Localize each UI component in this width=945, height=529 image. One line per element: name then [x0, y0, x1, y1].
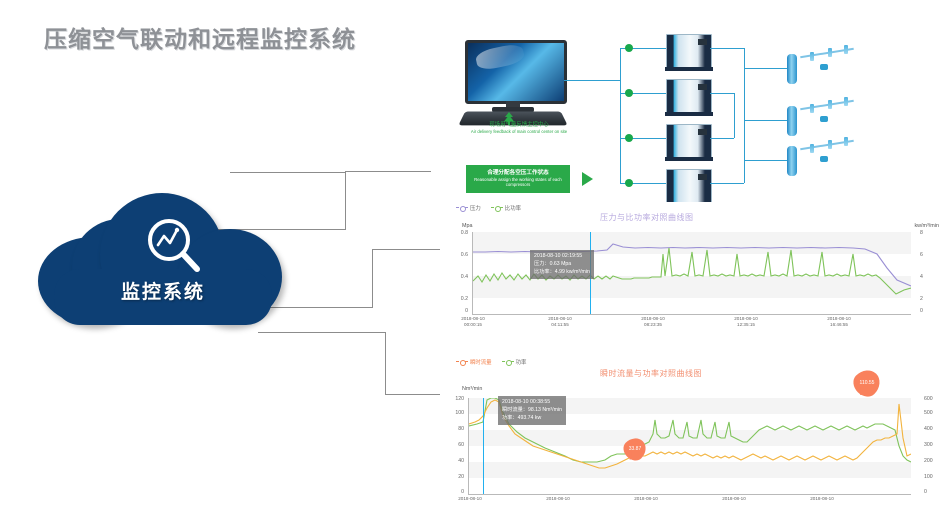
- magnifier-chart-icon: [144, 217, 206, 279]
- air-tank: [787, 54, 797, 84]
- drop-line: [844, 137, 848, 146]
- pipe-out-4: [710, 183, 744, 184]
- xtick-time: 04:11:55: [535, 322, 585, 328]
- pressure-xtick: 2018-08-10 00:00:15: [448, 316, 498, 327]
- pipe-collector-inner: [734, 93, 735, 138]
- compressor-panel: [698, 84, 707, 90]
- flow-chart-title: 瞬时流量与功率对照曲线图: [600, 368, 702, 379]
- flow-tooltip: 2018-08-10 00:38:55 瞬时流量：98.13 Nm³/min 功…: [498, 396, 566, 425]
- pressure-xtick: 2018-08-10 08:23:35: [628, 316, 678, 327]
- compressor-unit: [666, 124, 712, 158]
- flow-cursor-line[interactable]: [483, 398, 484, 494]
- tooltip-timestamp: 2018-08-10 02:19:55: [534, 253, 590, 261]
- xtick-time: 12:35:15: [721, 322, 771, 328]
- pipe-bus-vertical: [620, 48, 621, 184]
- node-dot-1: [625, 44, 633, 52]
- legend-item-pressure[interactable]: 压力: [456, 204, 481, 212]
- drop-line: [828, 140, 832, 149]
- flow-ytick-right: 600: [924, 396, 940, 402]
- pipe-plant-2: [744, 120, 788, 121]
- flow-ytick: 120: [448, 396, 464, 402]
- flow-max-marker-value: 110.55: [854, 370, 880, 396]
- pressure-ytick-right: 4: [920, 274, 936, 280]
- node-dot-3: [625, 134, 633, 142]
- legend-item-power[interactable]: 功率: [502, 358, 527, 366]
- feedback-caption-cn: 现场用气量反馈主控中心: [464, 122, 574, 129]
- compressor-unit: [666, 169, 712, 203]
- compressor-unit: [666, 34, 712, 68]
- pipe-plant-1: [744, 68, 788, 69]
- connector-2-vertical: [372, 249, 373, 307]
- pressure-xtick: 2018-08-10 04:11:55: [535, 316, 585, 327]
- flow-xtick: 2018-08-10: [445, 496, 495, 502]
- flow-chart[interactable]: 瞬时流量 功率 瞬时流量与功率对照曲线图 Nm³/min 120 100 80 …: [440, 356, 942, 516]
- flow-xtick: 2018-08-10: [797, 496, 847, 502]
- pressure-ytick: 0.6: [452, 252, 468, 258]
- flow-ytick-right: 300: [924, 442, 940, 448]
- compressor-panel: [698, 39, 707, 45]
- flow-ytick: 20: [448, 474, 464, 480]
- assign-status-box: 合理分配各空压工作状态 Reasonable assign the workin…: [466, 165, 570, 193]
- pressure-ytick: 0: [452, 308, 468, 314]
- connector-line-top: [230, 172, 345, 173]
- slide-root: 压缩空气联动和远程监控系统 监控系统: [0, 0, 945, 529]
- flow-max-marker[interactable]: 110.55: [849, 365, 886, 402]
- compressor-base: [665, 157, 713, 161]
- legend-marker: [456, 361, 468, 363]
- tooltip-line-specific-power: 比功率：4.99 kw/m³/min: [534, 269, 590, 277]
- monitor-screen: [465, 40, 567, 104]
- tooltip-line-power: 功率：493.74 kw: [502, 415, 562, 423]
- cloud-label: 监控系统: [38, 277, 288, 304]
- pipe-out-3: [710, 138, 734, 139]
- xtick-time: 08:23:35: [628, 322, 678, 328]
- flow-min-marker-value: 33.87: [624, 438, 646, 460]
- pressure-chart[interactable]: 压力 比功率 压力与比功率对照曲线图 Mpa kw/m³/min 0.8 0.6…: [440, 202, 942, 332]
- feedback-caption: 现场用气量反馈主控中心 Air delivery feedback of mai…: [464, 122, 574, 134]
- pressure-ytick-right: 2: [920, 296, 936, 302]
- flow-ytick-right: 100: [924, 474, 940, 480]
- pressure-y-axis-unit-left: Mpa: [462, 223, 473, 229]
- legend-label: 比功率: [505, 204, 521, 212]
- flow-chart-legend[interactable]: 瞬时流量 功率: [456, 358, 526, 366]
- flow-ytick: 60: [448, 442, 464, 448]
- flow-y-axis-unit-left: Nm³/min: [462, 386, 482, 392]
- flow-ytick: 80: [448, 426, 464, 432]
- flow-xtick: 2018-08-10: [533, 496, 583, 502]
- air-tank: [787, 146, 797, 176]
- drop-line: [844, 45, 848, 54]
- tooltip-line-pressure: 压力：0.63 Mpa: [534, 261, 590, 269]
- page-title: 压缩空气联动和远程监控系统: [44, 20, 356, 54]
- legend-marker: [502, 361, 514, 363]
- pressure-y-axis-unit-right: kw/m³/min: [914, 223, 939, 229]
- pressure-chart-legend[interactable]: 压力 比功率: [456, 204, 521, 212]
- pressure-ytick-right: 0: [920, 308, 936, 314]
- air-tank: [787, 106, 797, 136]
- flow-xtick: 2018-08-10: [709, 496, 759, 502]
- drop-line: [828, 48, 832, 57]
- legend-marker: [456, 207, 468, 209]
- pressure-xtick: 2018-08-10 12:35:15: [721, 316, 771, 327]
- pressure-chart-title: 压力与比功率对照曲线图: [600, 212, 694, 223]
- drop-line: [810, 52, 814, 61]
- legend-marker: [491, 207, 503, 209]
- flow-ytick-right: 400: [924, 426, 940, 432]
- compressor-panel: [698, 174, 707, 180]
- legend-item-specific-power[interactable]: 比功率: [491, 204, 521, 212]
- drop-line: [810, 144, 814, 153]
- xtick-time: 16:46:55: [814, 322, 864, 328]
- flow-ytick-right: 200: [924, 458, 940, 464]
- legend-label: 功率: [516, 358, 527, 366]
- connector-1-vertical: [345, 171, 346, 230]
- pressure-ytick-right: 8: [920, 230, 936, 236]
- system-topology-diagram: 现场用气量反馈主控中心 Air delivery feedback of mai…: [440, 22, 940, 207]
- flow-ytick: 100: [448, 410, 464, 416]
- pressure-tooltip: 2018-08-10 02:19:55 压力：0.63 Mpa 比功率：4.99…: [530, 250, 594, 279]
- node-dot-2: [625, 89, 633, 97]
- flow-ytick: 0: [448, 489, 464, 495]
- assign-status-en: Reasonable assign the working states of …: [466, 177, 570, 188]
- flow-ytick-right: 0: [924, 489, 940, 495]
- compressor-unit: [666, 79, 712, 113]
- end-equipment: [820, 156, 828, 162]
- pressure-ytick: 0.4: [452, 274, 468, 280]
- connector-2-horizontal-mid: [343, 307, 373, 308]
- flow-ytick: 40: [448, 458, 464, 464]
- xtick-time: 00:00:15: [448, 322, 498, 328]
- compressor-base: [665, 67, 713, 71]
- tooltip-line-instant-flow: 瞬时流量：98.13 Nm³/min: [502, 407, 562, 415]
- pipe-monitor-to-bus: [564, 80, 620, 81]
- legend-label: 瞬时流量: [470, 358, 492, 366]
- flow-xtick: 2018-08-10: [621, 496, 671, 502]
- compressor-base: [665, 112, 713, 116]
- right-arrow-icon: [582, 172, 593, 186]
- legend-label: 压力: [470, 204, 481, 212]
- feedback-caption-en: Air delivery feedback of main control ce…: [464, 129, 574, 134]
- tooltip-timestamp: 2018-08-10 00:38:55: [502, 399, 562, 407]
- flow-ytick-right: 500: [924, 410, 940, 416]
- flow-min-marker[interactable]: 33.87: [619, 433, 650, 464]
- pressure-ytick: 0.8: [452, 230, 468, 236]
- legend-item-instant-flow[interactable]: 瞬时流量: [456, 358, 492, 366]
- pressure-ytick-right: 6: [920, 252, 936, 258]
- connector-3-horizontal-in: [258, 332, 385, 333]
- drop-line: [810, 104, 814, 113]
- compressor-panel: [698, 129, 707, 135]
- connector-3-vertical: [385, 332, 386, 395]
- pipe-out-1: [710, 48, 744, 49]
- connector-1-horizontal-out: [345, 171, 431, 172]
- pressure-xtick: 2018-08-10 16:46:55: [814, 316, 864, 327]
- node-dot-4: [625, 179, 633, 187]
- drop-line: [844, 97, 848, 106]
- monitoring-cloud[interactable]: 监控系统: [38, 185, 288, 325]
- screen-glare: [474, 42, 525, 72]
- pipe-out-2: [710, 93, 734, 94]
- end-equipment: [820, 116, 828, 122]
- end-equipment: [820, 64, 828, 70]
- drop-line: [828, 100, 832, 109]
- assign-status-cn: 合理分配各空压工作状态: [487, 170, 549, 177]
- pipe-plant-3: [744, 160, 788, 161]
- pressure-ytick: 0.2: [452, 296, 468, 302]
